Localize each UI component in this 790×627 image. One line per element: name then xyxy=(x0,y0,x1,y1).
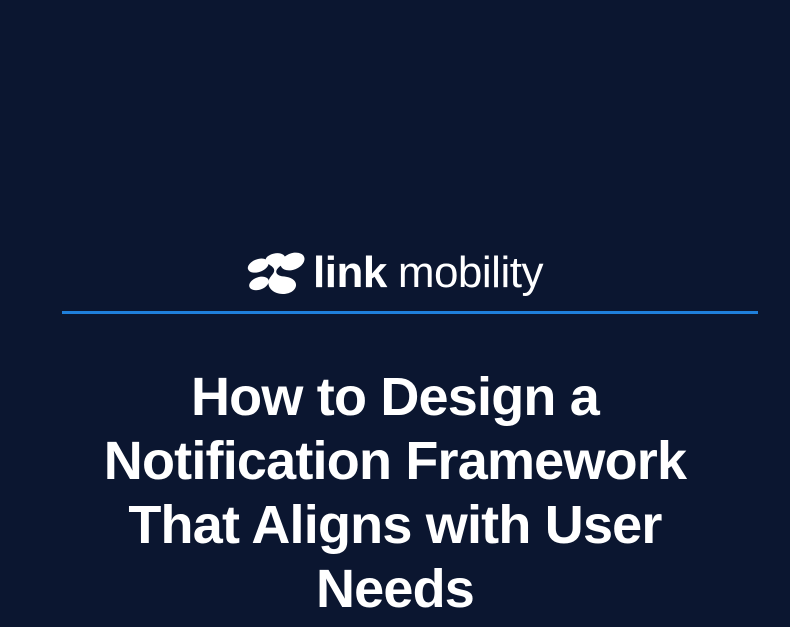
link-mobility-logo-mark-icon xyxy=(247,250,307,296)
page-title: How to Design a Notification Framework T… xyxy=(0,365,790,621)
wordmark-link: link xyxy=(313,251,387,295)
title-line-4: Needs xyxy=(20,557,770,621)
title-line-3: That Aligns with User xyxy=(20,493,770,557)
brand-lockup: link mobility xyxy=(0,243,790,303)
wordmark-mobility: mobility xyxy=(398,251,543,295)
accent-divider xyxy=(62,311,758,314)
title-line-1: How to Design a xyxy=(20,365,770,429)
title-slide: link mobility How to Design a Notificati… xyxy=(0,0,790,627)
brand-wordmark: link mobility xyxy=(313,251,543,295)
title-line-2: Notification Framework xyxy=(20,429,770,493)
